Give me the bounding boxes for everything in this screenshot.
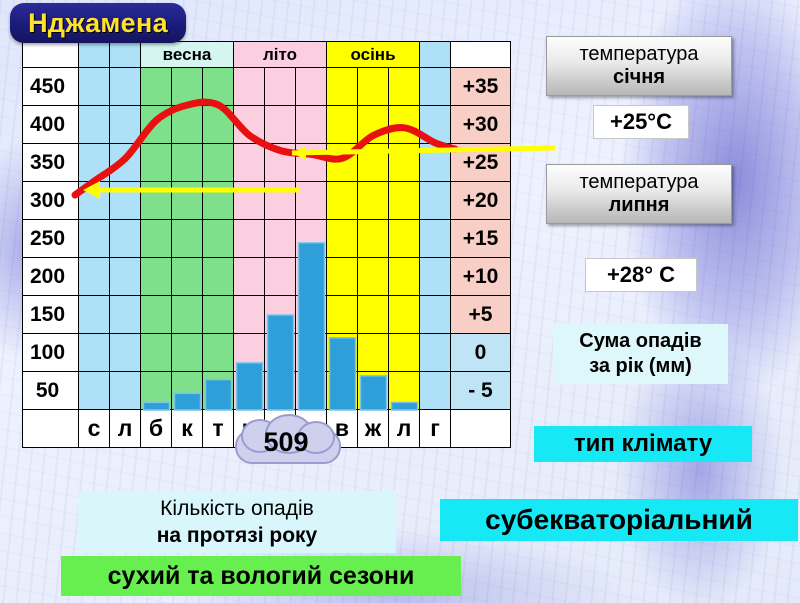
grid-row-100: 100 0 [23, 334, 511, 372]
cell [296, 220, 327, 258]
season-header-summer: літо [234, 42, 327, 68]
month-label-11: л [389, 410, 420, 448]
cell [389, 372, 420, 410]
cell [203, 182, 234, 220]
season-header-right [451, 42, 511, 68]
cell [141, 68, 172, 106]
cell [110, 334, 141, 372]
precip-total-cloud: 509 [231, 415, 341, 463]
cell [234, 372, 265, 410]
cell [172, 334, 203, 372]
left-tick-400: 400 [23, 106, 79, 144]
cell [358, 372, 389, 410]
cell [203, 68, 234, 106]
cell [420, 182, 451, 220]
cell [234, 182, 265, 220]
cell [203, 372, 234, 410]
cell [327, 144, 358, 182]
cell [141, 258, 172, 296]
right-tick-5: +5 [451, 296, 511, 334]
cell [203, 258, 234, 296]
cell [110, 182, 141, 220]
cell [265, 68, 296, 106]
right-tick-30: +30 [451, 106, 511, 144]
cell [141, 182, 172, 220]
callout-january-temperature-line2: січня [613, 66, 665, 89]
cell [327, 372, 358, 410]
cell [389, 296, 420, 334]
month-row-right [451, 410, 511, 448]
callout-july-temperature-line2: липня [609, 194, 670, 217]
season-header-m12 [420, 42, 451, 68]
callout-july-temperature-line1: температура [580, 171, 699, 194]
cell [203, 334, 234, 372]
grid-row-400: 400 +30 [23, 106, 511, 144]
cell [265, 220, 296, 258]
left-tick-250: 250 [23, 220, 79, 258]
cell [79, 296, 110, 334]
cell [234, 296, 265, 334]
cell [79, 372, 110, 410]
cell [327, 106, 358, 144]
grid-row-50: 50 - 5 [23, 372, 511, 410]
cell [296, 68, 327, 106]
cell [358, 220, 389, 258]
cell [389, 220, 420, 258]
cell [172, 372, 203, 410]
season-header-m1 [79, 42, 110, 68]
callout-precip-sum-line2: за рік (мм) [589, 354, 692, 379]
cell [79, 68, 110, 106]
cell [234, 106, 265, 144]
cell [141, 372, 172, 410]
callout-precip-year-line2: на протязі року [157, 522, 318, 549]
city-title-badge: Нджамена [10, 3, 186, 43]
value-january-temperature: +25°C [593, 105, 689, 139]
cell [265, 258, 296, 296]
cell [141, 334, 172, 372]
left-tick-300: 300 [23, 182, 79, 220]
climate-diagram: весна літо осінь 450 +35 400 [22, 41, 511, 448]
cell [172, 258, 203, 296]
cell [110, 106, 141, 144]
cell [172, 220, 203, 258]
cell [172, 182, 203, 220]
cell [203, 106, 234, 144]
cell [234, 144, 265, 182]
month-label-10: ж [358, 410, 389, 448]
cell [110, 372, 141, 410]
callout-precip-year-line1: Кількість опадів [160, 495, 314, 522]
cell [389, 334, 420, 372]
left-tick-450: 450 [23, 68, 79, 106]
cell [110, 220, 141, 258]
cell [296, 372, 327, 410]
cell [420, 334, 451, 372]
cell [389, 258, 420, 296]
cell [110, 258, 141, 296]
cell [234, 334, 265, 372]
callout-precip-sum-line1: Сума опадів [579, 329, 701, 354]
callout-precip-sum: Сума опадів за рік (мм) [553, 324, 728, 384]
month-label-3: б [141, 410, 172, 448]
cell [110, 144, 141, 182]
callout-seasons: сухий та вологий сезони [61, 556, 461, 596]
grid-row-350: 350 +25 [23, 144, 511, 182]
cell [327, 68, 358, 106]
grid-row-450: 450 +35 [23, 68, 511, 106]
cell [389, 68, 420, 106]
right-tick-0: 0 [451, 334, 511, 372]
cell [203, 220, 234, 258]
cell [296, 296, 327, 334]
cell [141, 296, 172, 334]
cell [79, 220, 110, 258]
cell [203, 296, 234, 334]
month-row-corner [23, 410, 79, 448]
right-tick-35: +35 [451, 68, 511, 106]
callout-precip-year: Кількість опадів на протязі року [78, 491, 396, 553]
left-tick-100: 100 [23, 334, 79, 372]
cell [141, 144, 172, 182]
value-july-temperature: +28° C [585, 258, 697, 292]
cell [358, 258, 389, 296]
right-tick-25: +25 [451, 144, 511, 182]
cell [141, 220, 172, 258]
cell [296, 334, 327, 372]
cell [420, 296, 451, 334]
cell [358, 296, 389, 334]
cell [296, 106, 327, 144]
callout-january-temperature-line1: температура [580, 43, 699, 66]
callout-january-temperature: температура січня [546, 36, 732, 96]
cell [141, 106, 172, 144]
cell [327, 258, 358, 296]
cell [420, 220, 451, 258]
right-tick-15: +15 [451, 220, 511, 258]
callout-july-temperature: температура липня [546, 164, 732, 224]
grid-row-200: 200 +10 [23, 258, 511, 296]
cell [265, 182, 296, 220]
cell [296, 144, 327, 182]
climate-grid: весна літо осінь 450 +35 400 [22, 41, 511, 448]
cell [172, 106, 203, 144]
left-tick-50: 50 [23, 372, 79, 410]
cell [296, 182, 327, 220]
cell [327, 296, 358, 334]
cell [172, 68, 203, 106]
cell [265, 334, 296, 372]
cell [420, 106, 451, 144]
grid-row-300: 300 +20 [23, 182, 511, 220]
precip-total-value: 509 [231, 415, 341, 463]
cell [420, 68, 451, 106]
cell [234, 258, 265, 296]
cell [265, 106, 296, 144]
left-tick-200: 200 [23, 258, 79, 296]
cell [172, 296, 203, 334]
cell [389, 144, 420, 182]
cell [79, 334, 110, 372]
cell [327, 182, 358, 220]
month-label-1: с [79, 410, 110, 448]
cell [265, 296, 296, 334]
cell [358, 182, 389, 220]
season-header-spring: весна [141, 42, 234, 68]
cell [79, 182, 110, 220]
cell [358, 106, 389, 144]
cell [79, 144, 110, 182]
month-label-4: к [172, 410, 203, 448]
cell [110, 68, 141, 106]
cell [172, 144, 203, 182]
season-header-m2 [110, 42, 141, 68]
cell [79, 258, 110, 296]
city-title: Нджамена [28, 8, 168, 39]
season-header-corner [23, 42, 79, 68]
cell [265, 144, 296, 182]
grid-row-250: 250 +15 [23, 220, 511, 258]
cell [265, 372, 296, 410]
month-label-12: г [420, 410, 451, 448]
value-climate-type: субекваторіальний [440, 499, 798, 541]
right-tick-minus5: - 5 [451, 372, 511, 410]
left-tick-150: 150 [23, 296, 79, 334]
season-header-autumn: осінь [327, 42, 420, 68]
cell [358, 144, 389, 182]
cell [327, 220, 358, 258]
cell [389, 106, 420, 144]
callout-climate-type-label: тип клімату [534, 426, 752, 462]
cell [420, 372, 451, 410]
cell [358, 68, 389, 106]
month-label-5: т [203, 410, 234, 448]
cell [234, 68, 265, 106]
cell [79, 106, 110, 144]
grid-row-150: 150 +5 [23, 296, 511, 334]
right-tick-20: +20 [451, 182, 511, 220]
cell [358, 334, 389, 372]
month-label-2: л [110, 410, 141, 448]
cell [420, 258, 451, 296]
season-header-row: весна літо осінь [23, 42, 511, 68]
cell [203, 144, 234, 182]
right-tick-10: +10 [451, 258, 511, 296]
cell [234, 220, 265, 258]
cell [327, 334, 358, 372]
cell [296, 258, 327, 296]
cell [110, 296, 141, 334]
cell [389, 182, 420, 220]
cell [420, 144, 451, 182]
left-tick-350: 350 [23, 144, 79, 182]
